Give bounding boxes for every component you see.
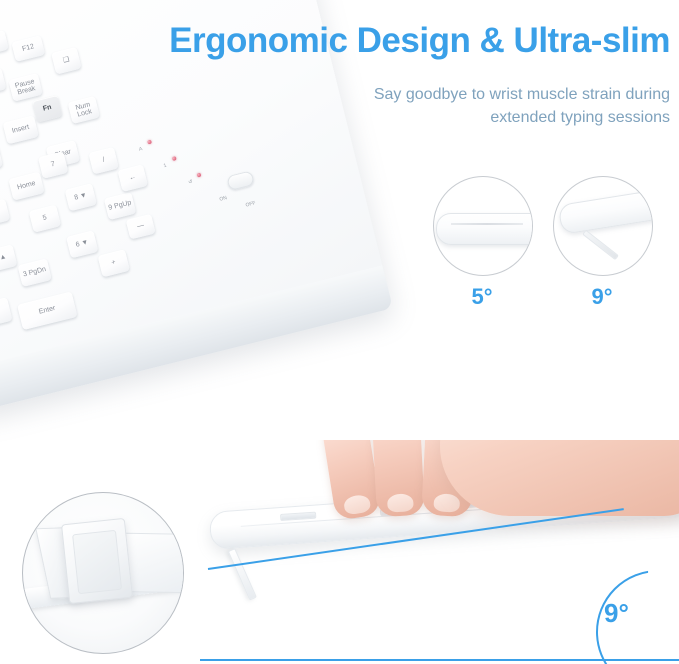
keyboard-key[interactable]: 8 ▼ (65, 183, 97, 211)
keyboard-key[interactable]: 3 PgDn (17, 258, 51, 287)
kickstand-leg-icon (582, 230, 619, 261)
fingernail (433, 493, 460, 512)
angle-inset-9 (553, 176, 653, 276)
side-port-vent (280, 512, 316, 521)
palm (440, 440, 679, 516)
keyboard-key[interactable]: F12 (11, 35, 45, 62)
keyboard-key[interactable]: / (88, 147, 119, 175)
keyboard-key[interactable]: 7 (38, 151, 69, 179)
keyboard-key[interactable]: 9 PgUp (104, 192, 136, 220)
keyboard-key[interactable]: Num Lock (68, 96, 100, 124)
keyboard-key[interactable]: ← (117, 164, 148, 192)
power-switch-label: OFF (245, 200, 256, 208)
keyboard-key[interactable]: Scroll Lock (0, 68, 6, 97)
subtitle-line-2: extended typing sessions (280, 107, 670, 130)
angle-label-9: 9° (553, 284, 651, 310)
status-led-icon: ↺ (188, 179, 194, 186)
angle-label-5: 5° (433, 284, 531, 310)
keyboard-body: F9F10F11F12—+PrtSc SysRqScroll LockPause… (0, 0, 393, 412)
keyboard-key[interactable]: ❑ (51, 47, 82, 75)
page-title: Ergonomic Design & Ultra-slim (110, 22, 670, 60)
finger-index (320, 440, 382, 521)
status-led-indicator (147, 140, 152, 145)
keyboard-key[interactable]: + (98, 249, 130, 277)
keyboard-key[interactable]: Enter (17, 291, 78, 330)
keyboard-key[interactable]: Fn (32, 95, 63, 123)
keyboard-profile-tilted (558, 189, 653, 235)
kickstand-hinge (61, 518, 133, 604)
hand-illustration (320, 440, 679, 554)
keyboard-key[interactable]: 6 ▼ (66, 230, 98, 258)
status-led-indicator (197, 173, 202, 178)
page-subtitle: Say goodbye to wrist muscle strain durin… (280, 84, 670, 129)
marketing-banner: F9F10F11F12—+PrtSc SysRqScroll LockPause… (0, 0, 679, 664)
power-switch[interactable] (226, 170, 255, 191)
angle-inset-5 (433, 176, 533, 276)
fingernail (343, 494, 371, 516)
status-led-icon: 1 (163, 163, 167, 169)
keyboard-key[interactable]: Del (0, 297, 13, 330)
keyboard-key[interactable]: Delete (0, 145, 3, 175)
keyboard-key[interactable]: F11 (0, 30, 9, 57)
keyboard-key[interactable]: Pause Break (8, 73, 42, 102)
keyboard-key[interactable]: — (126, 214, 156, 240)
bottom-angle-badge: 9° (604, 598, 629, 629)
status-led-icon: A (138, 146, 143, 153)
fingernail (387, 493, 414, 512)
subtitle-line-1: Say goodbye to wrist muscle strain durin… (280, 84, 670, 107)
keyboard-key[interactable]: 4 ▲ (0, 199, 10, 228)
keyboard-profile-flat (436, 213, 533, 245)
finger-middle (371, 440, 425, 517)
keyboard-key[interactable]: Insert (3, 115, 39, 144)
keyboard-key[interactable]: Home (8, 172, 44, 201)
keyboard-key[interactable]: 2 ▲ (0, 244, 17, 273)
status-led-indicator (172, 156, 177, 161)
deployed-kickstand-foot (228, 548, 257, 601)
keyboard-key[interactable]: 5 (29, 205, 61, 233)
keyboard-photo-top: F9F10F11F12—+PrtSc SysRqScroll LockPause… (0, 0, 451, 490)
power-switch-label: ON (219, 195, 228, 203)
